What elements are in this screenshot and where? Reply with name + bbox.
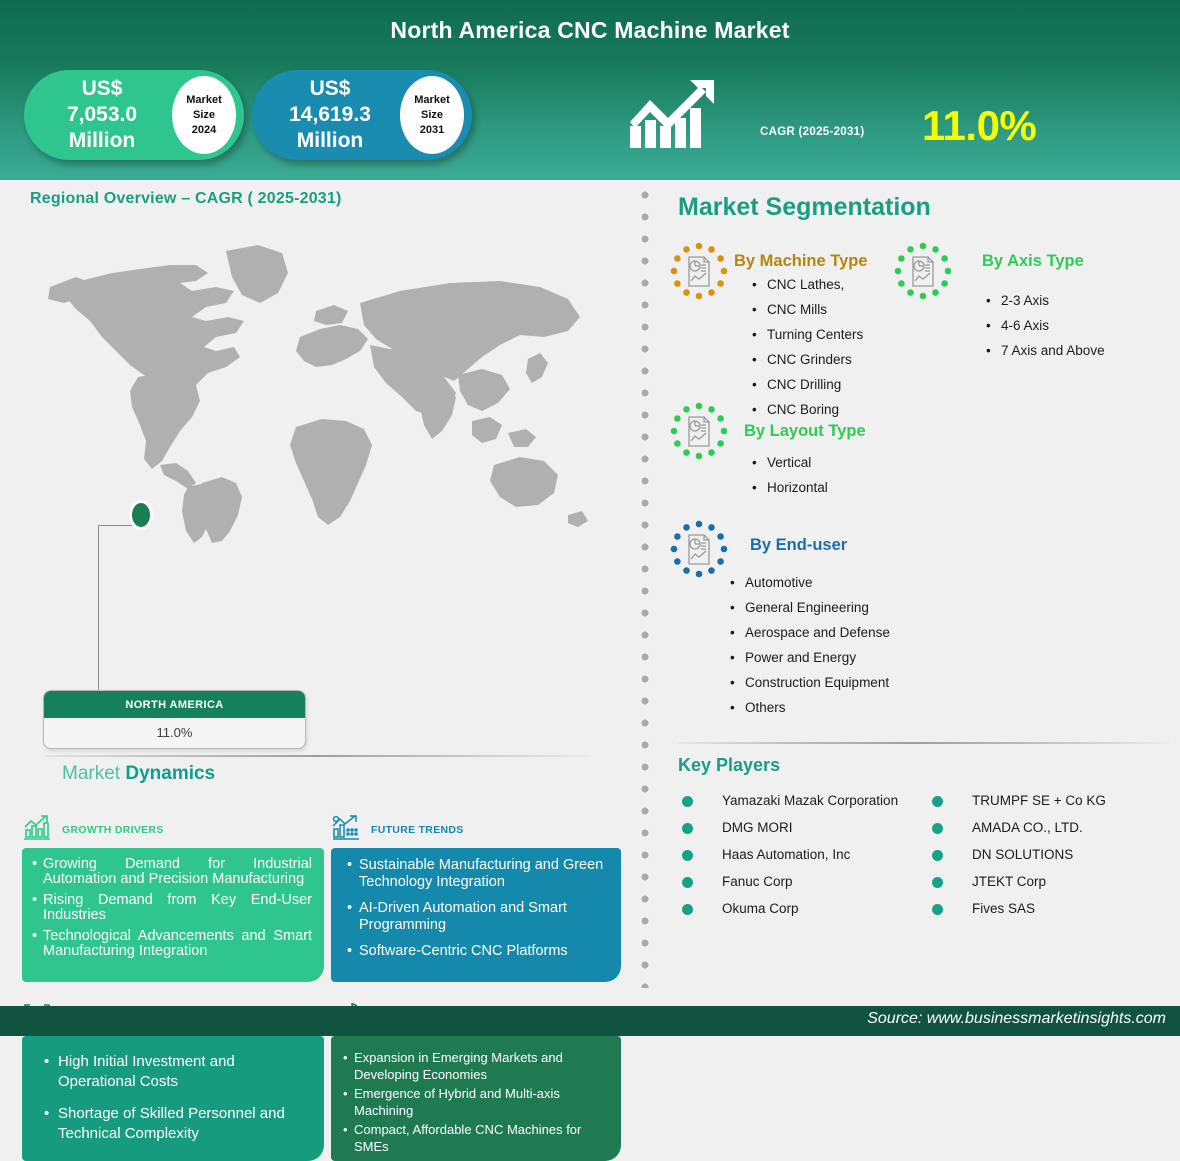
list-item: TRUMPF SE + Co KG bbox=[932, 792, 1162, 810]
market-size-2031-badge: Market Size 2031 bbox=[400, 76, 464, 154]
restraints-body: High Initial Investment and Operational … bbox=[22, 1036, 324, 1161]
market-size-2031-pill: US$ 14,619.3 Million Market Size 2031 bbox=[252, 70, 472, 160]
list-item: AI-Driven Automation and Smart Programmi… bbox=[347, 900, 609, 934]
list-item: Okuma Corp bbox=[682, 900, 912, 918]
list-item: 7 Axis and Above bbox=[984, 338, 1105, 363]
by-machine-type-list: CNC Lathes, CNC Mills Turning Centers CN… bbox=[750, 272, 863, 422]
list-item: AMADA CO., LTD. bbox=[932, 819, 1162, 837]
cagr-value: 11.0% bbox=[922, 102, 1036, 150]
section-divider bbox=[45, 755, 590, 757]
left-panel: Regional Overview – CAGR ( 2025-2031) bbox=[0, 180, 636, 986]
list-item: Others bbox=[728, 695, 890, 720]
panel-dotted-divider bbox=[638, 188, 652, 988]
list-item: Sustainable Manufacturing and Green Tech… bbox=[347, 857, 609, 891]
list-item: CNC Grinders bbox=[750, 347, 863, 372]
list-item: 4-6 Axis bbox=[984, 313, 1105, 338]
right-panel: Market Segmentation By Machine Type CNC … bbox=[652, 180, 1180, 986]
by-machine-type-ring-icon bbox=[670, 242, 728, 300]
future-trends-list: Sustainable Manufacturing and Green Tech… bbox=[347, 857, 609, 960]
future-trends-label: FUTURE TRENDS bbox=[371, 824, 464, 836]
key-players-title: Key Players bbox=[678, 755, 780, 776]
list-item: 2-3 Axis bbox=[984, 288, 1105, 313]
growth-bar-chart-arrow-icon bbox=[628, 78, 720, 155]
north-america-map-marker bbox=[129, 500, 153, 530]
future-trends-block: FUTURE TRENDS Sustainable Manufacturing … bbox=[331, 812, 621, 982]
list-item: Aerospace and Defense bbox=[728, 620, 890, 645]
list-item: Emergence of Hybrid and Multi-axis Machi… bbox=[343, 1085, 611, 1119]
future-trends-header: FUTURE TRENDS bbox=[331, 812, 621, 848]
by-end-user-list: Automotive General Engineering Aerospace… bbox=[728, 570, 890, 720]
opportunity-list: Expansion in Emerging Markets and Develo… bbox=[343, 1049, 611, 1155]
key-players-column-2: TRUMPF SE + Co KG AMADA CO., LTD. DN SOL… bbox=[932, 792, 1162, 927]
key-players-column-1: Yamazaki Mazak Corporation DMG MORI Haas… bbox=[682, 792, 912, 927]
map-leader-line-horizontal bbox=[98, 525, 132, 526]
market-dynamics-title: Market Dynamics bbox=[62, 763, 215, 785]
region-name: NORTH AMERICA bbox=[44, 691, 305, 718]
list-item: DMG MORI bbox=[682, 819, 912, 837]
list-item: General Engineering bbox=[728, 595, 890, 620]
list-item: Shortage of Skilled Personnel and Techni… bbox=[44, 1104, 312, 1144]
market-size-2024-badge: Market Size 2024 bbox=[172, 76, 236, 154]
growth-drivers-block: GROWTH DRIVERS Growing Demand for Indust… bbox=[22, 812, 324, 982]
list-item: CNC Lathes, bbox=[750, 272, 863, 297]
region-cagr-value: 11.0% bbox=[44, 718, 305, 748]
list-item: Haas Automation, Inc bbox=[682, 846, 912, 864]
by-machine-type-heading: By Machine Type bbox=[734, 252, 868, 271]
by-axis-type-heading: By Axis Type bbox=[982, 252, 1084, 271]
list-item: Fanuc Corp bbox=[682, 873, 912, 891]
by-layout-type-list: Vertical Horizontal bbox=[750, 450, 828, 500]
list-item: Turning Centers bbox=[750, 322, 863, 347]
list-item: DN SOLUTIONS bbox=[932, 846, 1162, 864]
market-size-2031-value: US$ 14,619.3 Million bbox=[252, 76, 400, 154]
by-end-user-ring-icon bbox=[670, 520, 728, 578]
list-item: Software-Centric CNC Platforms bbox=[347, 943, 609, 960]
list-item: High Initial Investment and Operational … bbox=[44, 1052, 312, 1092]
list-item: Fives SAS bbox=[932, 900, 1162, 918]
list-item: CNC Drilling bbox=[750, 372, 863, 397]
opportunity-body: Expansion in Emerging Markets and Develo… bbox=[331, 1036, 621, 1161]
by-layout-type-heading: By Layout Type bbox=[744, 422, 866, 441]
growth-drivers-body: Growing Demand for Industrial Automation… bbox=[22, 848, 324, 982]
cagr-label: CAGR (2025-2031) bbox=[760, 126, 865, 138]
map-leader-line-vertical bbox=[98, 525, 99, 690]
growth-drivers-list: Growing Demand for Industrial Automation… bbox=[32, 857, 312, 959]
footer-bar: Source: www.businessmarketinsights.com bbox=[0, 1006, 1180, 1036]
list-item: Yamazaki Mazak Corporation bbox=[682, 792, 912, 810]
page-title: North America CNC Machine Market bbox=[0, 17, 1180, 44]
list-item: CNC Mills bbox=[750, 297, 863, 322]
list-item: Power and Energy bbox=[728, 645, 890, 670]
list-item: Rising Demand from Key End-User Industri… bbox=[32, 893, 312, 923]
restraints-list: High Initial Investment and Operational … bbox=[44, 1052, 312, 1144]
by-layout-type-ring-icon bbox=[670, 402, 728, 460]
world-map bbox=[20, 225, 620, 545]
key-players-divider bbox=[678, 742, 1170, 744]
list-item: Growing Demand for Industrial Automation… bbox=[32, 857, 312, 887]
list-item: CNC Boring bbox=[750, 397, 863, 422]
regional-overview-title: Regional Overview – CAGR ( 2025-2031) bbox=[30, 190, 342, 208]
source-text: Source: www.businessmarketinsights.com bbox=[867, 1010, 1166, 1028]
market-size-2024-value: US$ 7,053.0 Million bbox=[24, 76, 172, 154]
by-axis-type-ring-icon bbox=[894, 242, 952, 300]
list-item: Technological Advancements and Smart Man… bbox=[32, 929, 312, 959]
list-item: Expansion in Emerging Markets and Develo… bbox=[343, 1049, 611, 1083]
market-segmentation-title: Market Segmentation bbox=[678, 193, 931, 222]
market-size-2024-pill: US$ 7,053.0 Million Market Size 2024 bbox=[24, 70, 244, 160]
list-item: Vertical bbox=[750, 450, 828, 475]
growth-chart-icon bbox=[22, 814, 52, 847]
list-item: Horizontal bbox=[750, 475, 828, 500]
list-item: Compact, Affordable CNC Machines for SME… bbox=[343, 1121, 611, 1155]
growth-drivers-header: GROWTH DRIVERS bbox=[22, 812, 324, 848]
by-axis-type-list: 2-3 Axis 4-6 Axis 7 Axis and Above bbox=[984, 288, 1105, 363]
region-callout-card: NORTH AMERICA 11.0% bbox=[43, 690, 306, 749]
header-banner: North America CNC Machine Market US$ 7,0… bbox=[0, 0, 1180, 180]
by-end-user-heading: By End-user bbox=[750, 536, 847, 555]
list-item: JTEKT Corp bbox=[932, 873, 1162, 891]
future-trends-body: Sustainable Manufacturing and Green Tech… bbox=[331, 848, 621, 982]
list-item: Construction Equipment bbox=[728, 670, 890, 695]
growth-drivers-label: GROWTH DRIVERS bbox=[62, 824, 164, 836]
list-item: Automotive bbox=[728, 570, 890, 595]
trend-chart-icon bbox=[331, 814, 361, 847]
